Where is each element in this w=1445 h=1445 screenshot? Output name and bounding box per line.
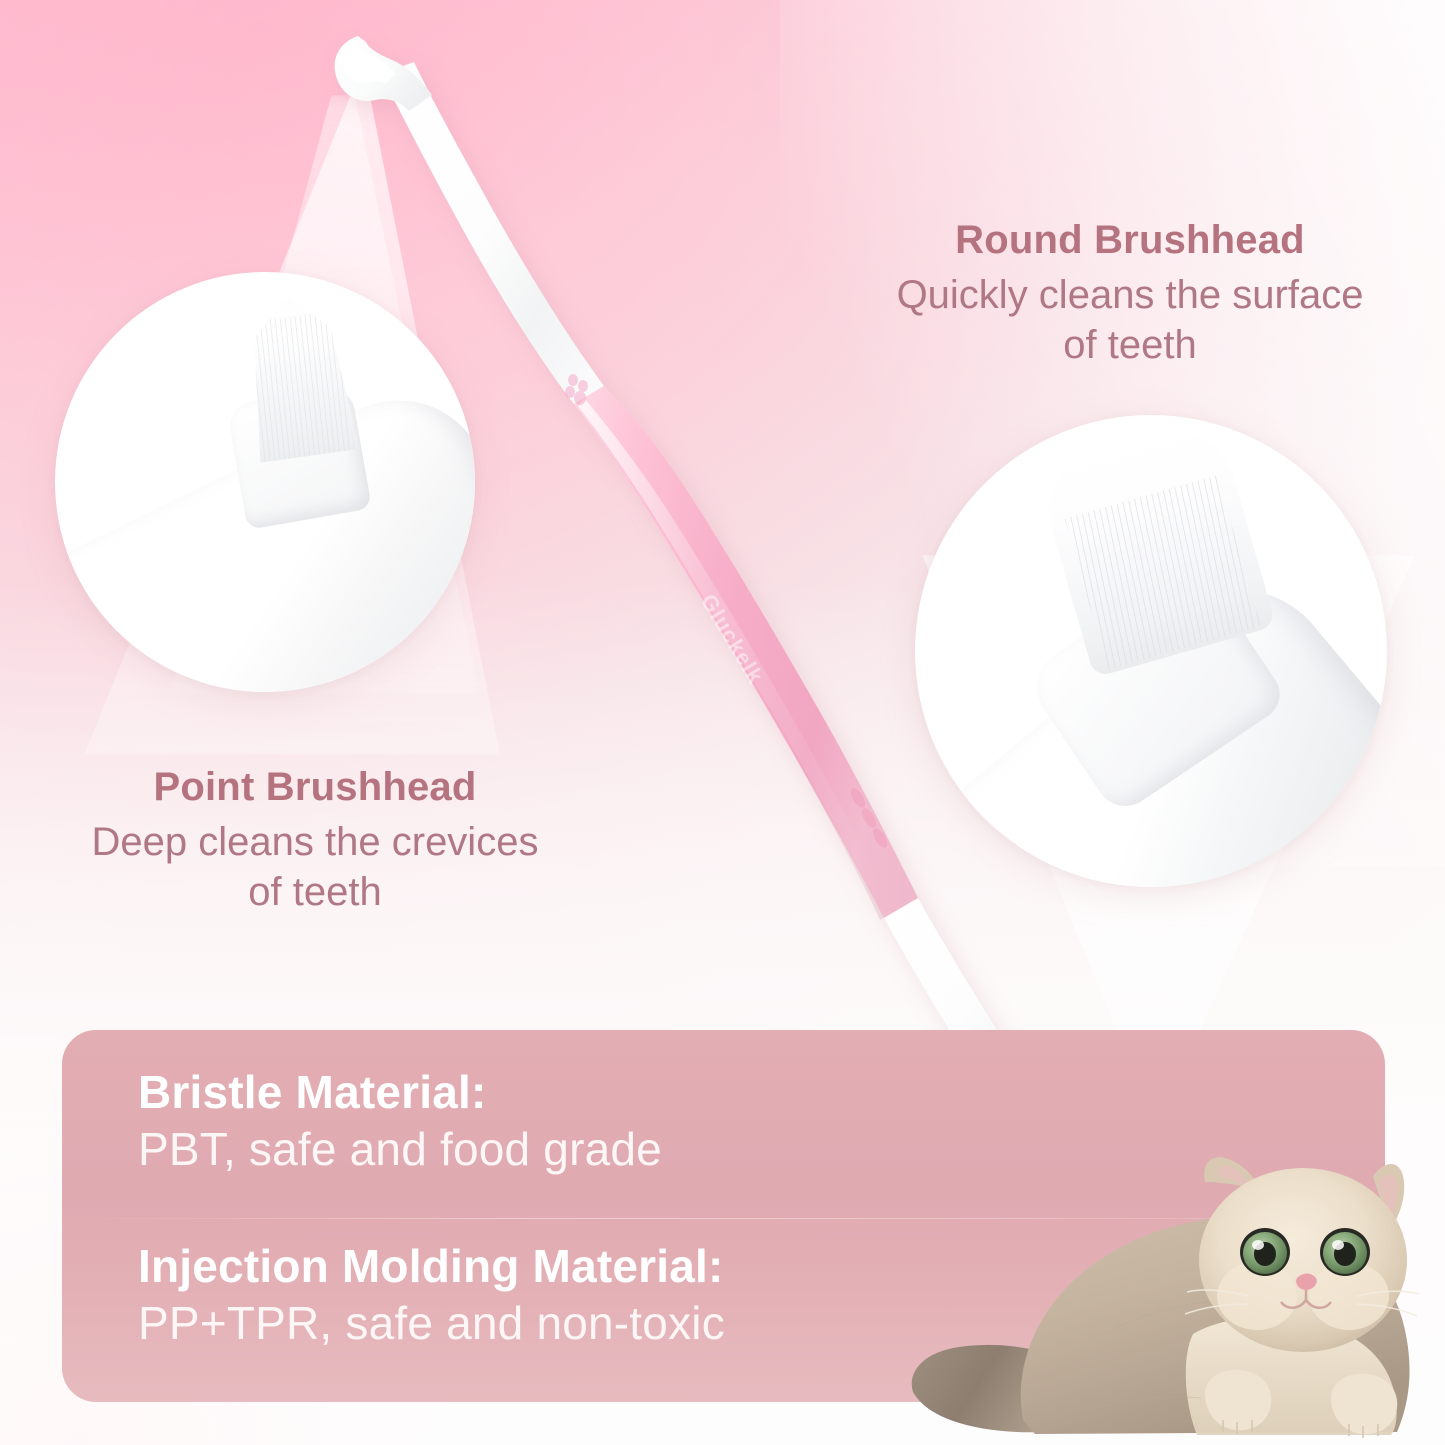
infographic-canvas: Gluckelk Round Brushhead Quickly cleans …: [0, 0, 1445, 1445]
cat-photo: [905, 1120, 1445, 1445]
callout-round-brushhead: Round Brushhead Quickly cleans the surfa…: [815, 218, 1445, 370]
spec-injection-heading: Injection Molding Material:: [138, 1242, 725, 1292]
callout-round-title: Round Brushhead: [815, 218, 1445, 264]
callout-point-line1: Deep cleans the crevices: [15, 817, 615, 867]
callout-point-title: Point Brushhead: [15, 765, 615, 811]
spec-bristle-body: PBT, safe and food grade: [138, 1124, 662, 1176]
spec-injection-body: PP+TPR, safe and non-toxic: [138, 1298, 725, 1350]
detail-circle-point-brushhead: [55, 272, 475, 692]
detail-circle-round-brushhead: [915, 415, 1387, 887]
cat-head: [1199, 1168, 1407, 1352]
callout-point-line2: of teeth: [15, 867, 615, 917]
callout-round-line2: of teeth: [815, 320, 1445, 370]
spec-bristle-material: Bristle Material: PBT, safe and food gra…: [138, 1068, 662, 1175]
cat-eye-left: [1240, 1228, 1290, 1276]
cat-eye-right: [1320, 1228, 1370, 1276]
spec-bristle-heading: Bristle Material:: [138, 1068, 662, 1118]
callout-point-brushhead: Point Brushhead Deep cleans the crevices…: [15, 765, 615, 917]
callout-round-line1: Quickly cleans the surface: [815, 270, 1445, 320]
spec-injection-molding-material: Injection Molding Material: PP+TPR, safe…: [138, 1242, 725, 1349]
